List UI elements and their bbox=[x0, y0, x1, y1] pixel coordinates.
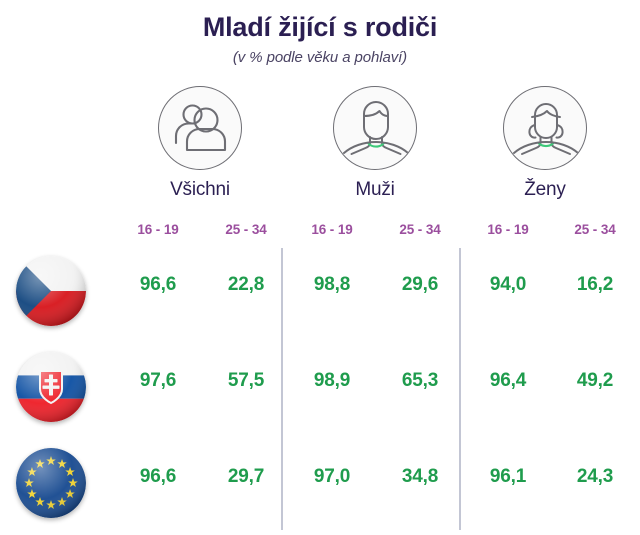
age-header: 16 - 19 bbox=[287, 222, 377, 237]
data-table: 96,6 22,8 98,8 29,6 94,0 16,2 bbox=[0, 250, 640, 535]
group-label: Všichni bbox=[110, 179, 290, 201]
slovakia-flag-icon bbox=[16, 352, 86, 422]
data-value: 97,0 bbox=[287, 466, 377, 488]
infographic-root: Mladí žijící s rodiči (v % podle věku a … bbox=[0, 0, 640, 535]
data-value: 29,7 bbox=[201, 466, 291, 488]
data-value: 57,5 bbox=[201, 370, 291, 392]
page-subtitle: (v % podle věku a pohlaví) bbox=[0, 49, 640, 66]
data-value: 97,6 bbox=[113, 370, 203, 392]
table-row: 96,6 29,7 97,0 34,8 96,1 24,3 bbox=[0, 442, 640, 535]
age-header: 16 - 19 bbox=[463, 222, 553, 237]
data-value: 34,8 bbox=[375, 466, 465, 488]
page-title: Mladí žijící s rodiči bbox=[0, 12, 640, 43]
age-header-row: 16 - 19 25 - 34 16 - 19 25 - 34 16 - 19 … bbox=[100, 222, 640, 244]
data-value: 16,2 bbox=[550, 274, 640, 296]
header: Mladí žijící s rodiči (v % podle věku a … bbox=[0, 0, 640, 66]
age-header: 25 - 34 bbox=[550, 222, 640, 237]
data-value: 98,8 bbox=[287, 274, 377, 296]
data-value: 24,3 bbox=[550, 466, 640, 488]
group-label: Ženy bbox=[455, 179, 635, 201]
table-row: 96,6 22,8 98,8 29,6 94,0 16,2 bbox=[0, 250, 640, 346]
data-value: 65,3 bbox=[375, 370, 465, 392]
data-value: 96,6 bbox=[113, 466, 203, 488]
group-column-muzi: Muži bbox=[285, 86, 465, 201]
data-value: 29,6 bbox=[375, 274, 465, 296]
european-union-flag-icon bbox=[16, 448, 86, 518]
group-column-zeny: Ženy bbox=[455, 86, 635, 201]
czech-republic-flag-icon bbox=[16, 256, 86, 326]
age-header: 25 - 34 bbox=[375, 222, 465, 237]
female-portrait-icon bbox=[503, 86, 587, 170]
age-header: 25 - 34 bbox=[201, 222, 291, 237]
group-header-row: Všichni Muži bbox=[100, 86, 640, 206]
data-value: 22,8 bbox=[201, 274, 291, 296]
data-value: 98,9 bbox=[287, 370, 377, 392]
data-value: 96,1 bbox=[463, 466, 553, 488]
data-value: 94,0 bbox=[463, 274, 553, 296]
data-value: 96,4 bbox=[463, 370, 553, 392]
data-value: 49,2 bbox=[550, 370, 640, 392]
table-row: 97,6 57,5 98,9 65,3 96,4 49,2 bbox=[0, 346, 640, 442]
data-value: 96,6 bbox=[113, 274, 203, 296]
age-header: 16 - 19 bbox=[113, 222, 203, 237]
group-column-vsichni: Všichni bbox=[110, 86, 290, 201]
group-label: Muži bbox=[285, 179, 465, 201]
two-people-icon bbox=[158, 86, 242, 170]
male-portrait-icon bbox=[333, 86, 417, 170]
